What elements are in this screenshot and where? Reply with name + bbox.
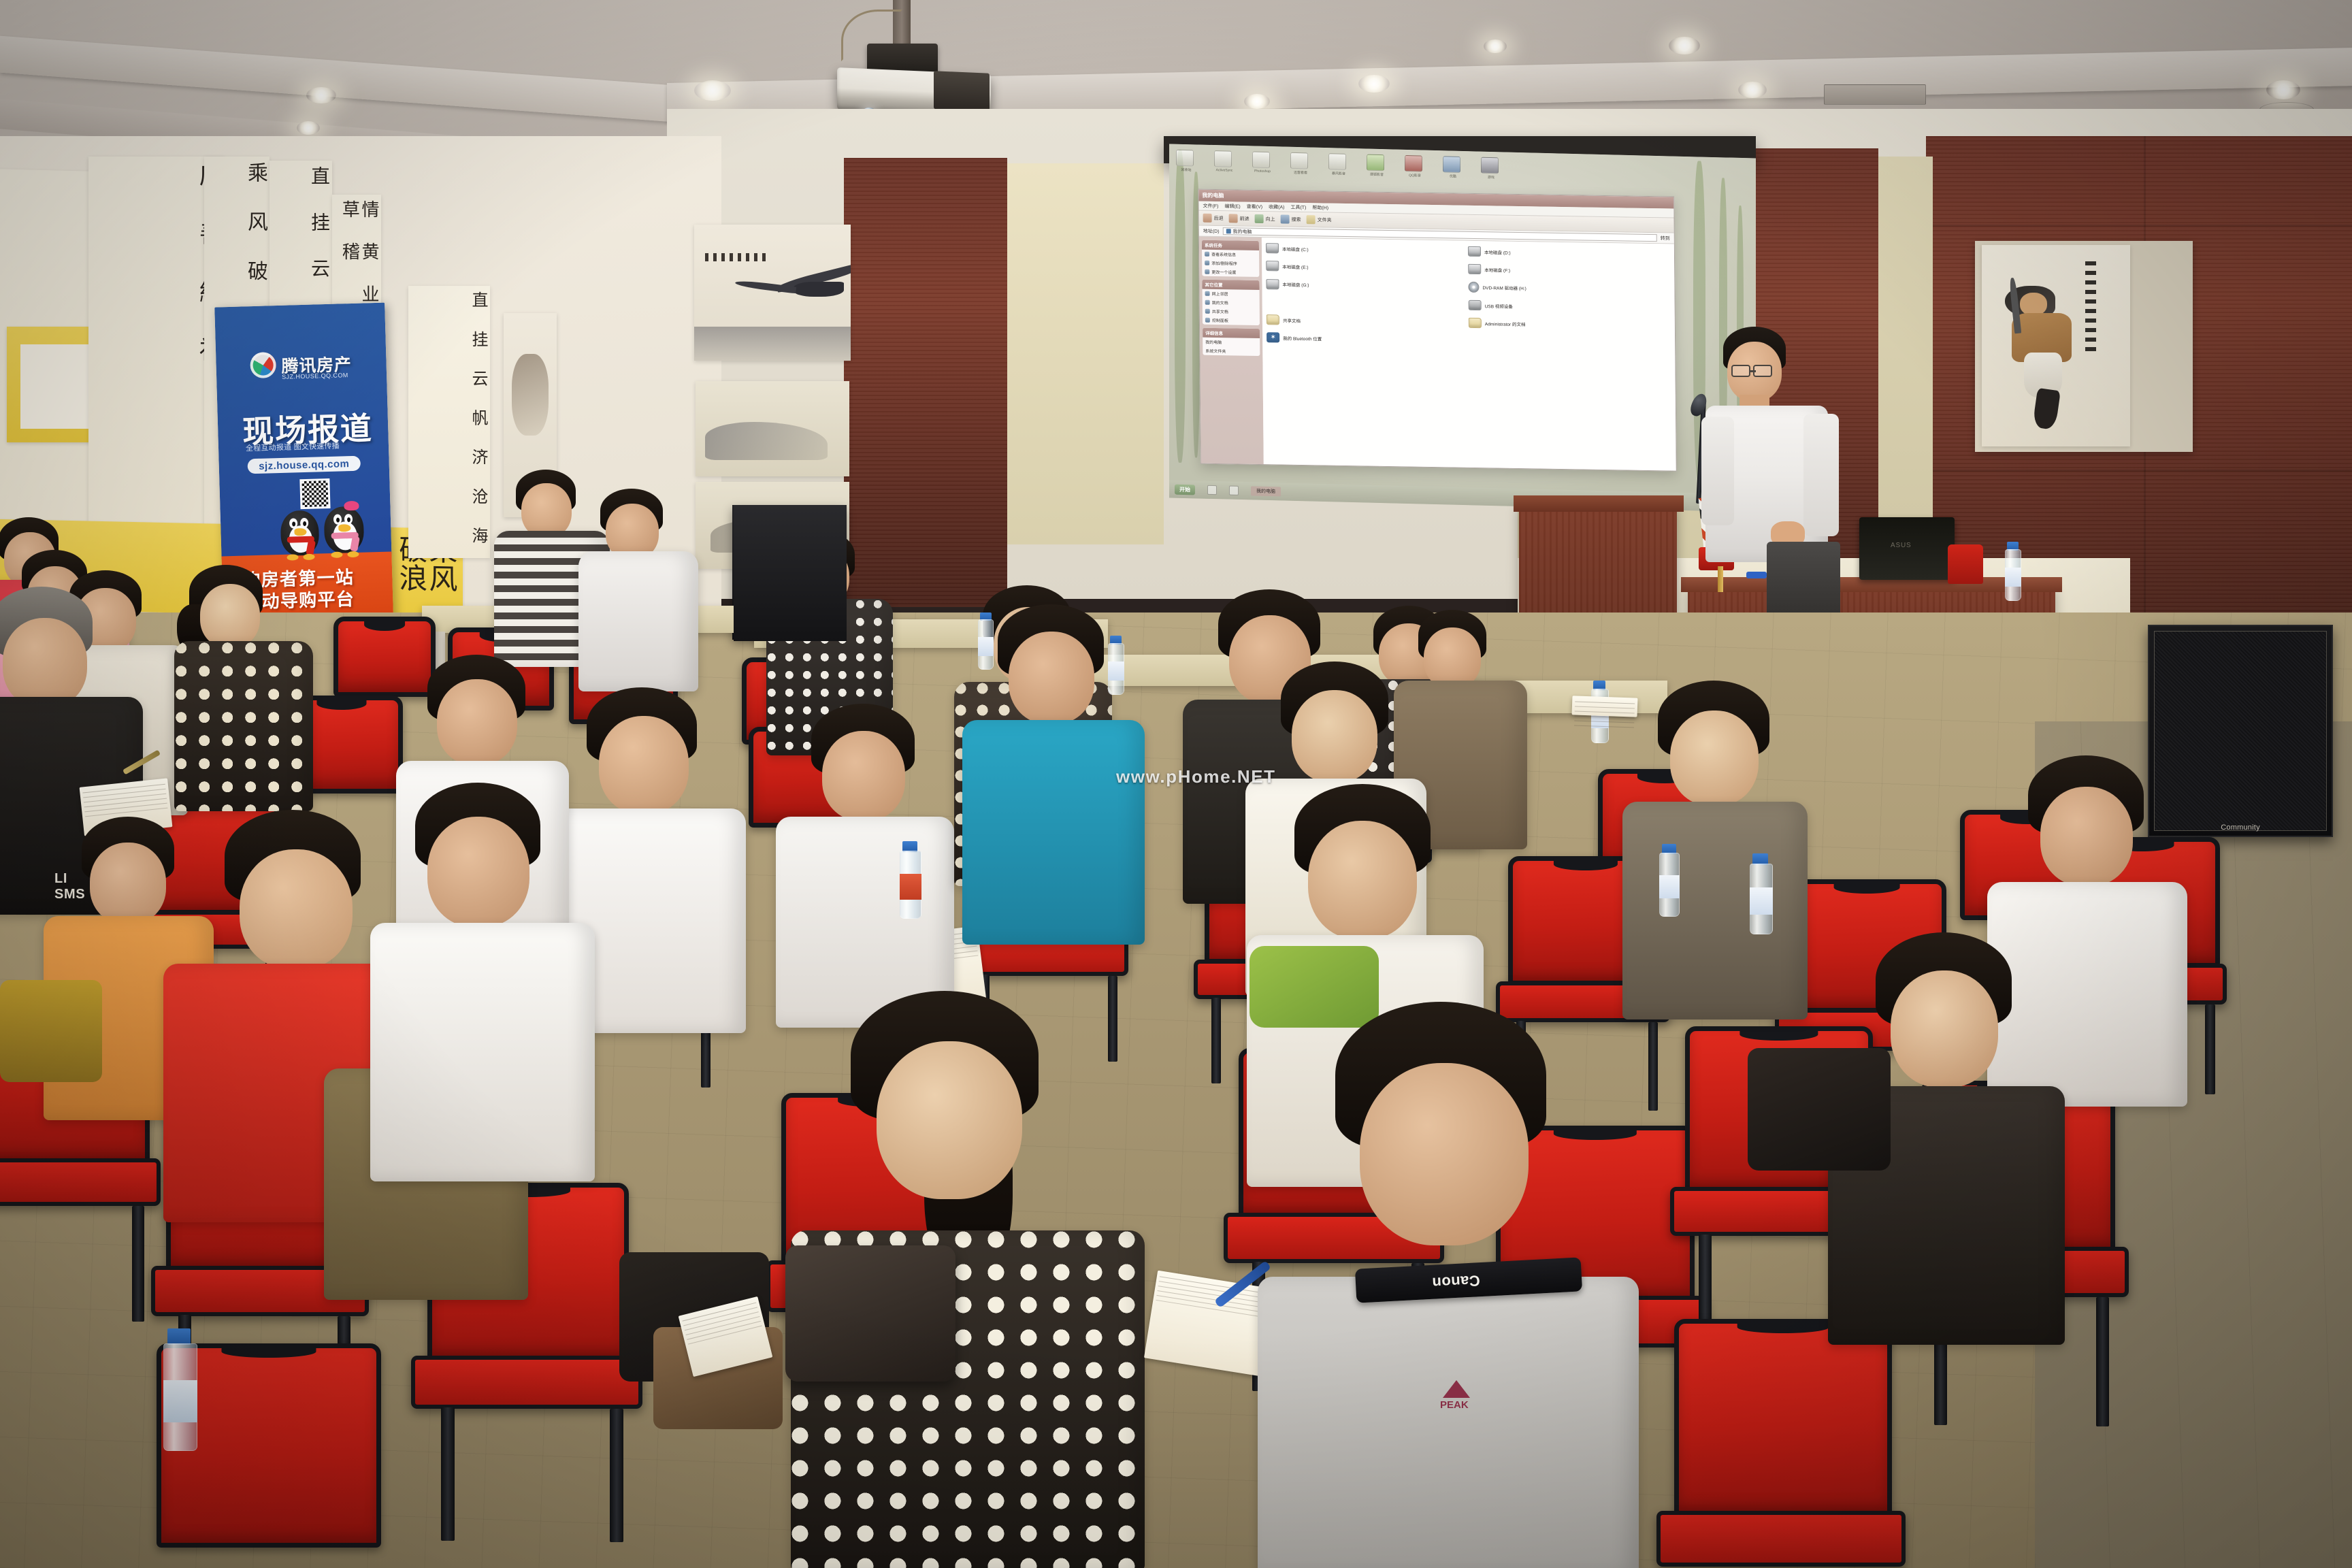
handbag (785, 1245, 955, 1382)
drive-list: 本地磁盘 (C:) 本地磁盘 (D:) 本地磁盘 (E:) 本地磁盘 (F:) … (1262, 238, 1676, 471)
task-sidebar: 系统任务 查看系统信息 添加/删除程序 更改一个设置 其它位置 网上邻居 我的文… (1199, 237, 1264, 465)
desktop-icon[interactable]: 游戏 (1481, 157, 1501, 185)
eagle-ink-painting (694, 225, 851, 361)
taskbar-icon[interactable] (1229, 486, 1239, 495)
qq-penguin-icon (277, 506, 322, 561)
ceiling-light (694, 80, 731, 101)
folder-item[interactable]: 共享文档 (1267, 314, 1469, 328)
panel-item[interactable]: 更改一个设置 (1202, 267, 1259, 277)
red-item-on-desk (1948, 544, 1983, 584)
panel-item[interactable]: 我的文档 (1203, 298, 1260, 308)
calligraphy-scroll-6: 直 挂 云 帆 济 沧 海 (408, 286, 490, 558)
forward-button[interactable]: 前进 (1229, 214, 1249, 223)
landscape-ink-painting-1 (696, 381, 849, 476)
ceiling-light (1669, 37, 1700, 54)
menu-item-tools[interactable]: 工具(T) (1290, 203, 1306, 210)
projected-desktop: 回收站 ActiveSync Photoshop 迅雷看看 暴风影音 搜狐影音 … (1169, 144, 1756, 512)
desktop-icon[interactable]: Photoshop (1252, 151, 1273, 179)
wood-wall-panel (844, 158, 1007, 607)
other-places-panel: 其它位置 网上邻居 我的文档 共享文档 控制面板 (1202, 280, 1260, 325)
penguin-bow-icon (344, 501, 359, 511)
green-scarf (1249, 946, 1379, 1028)
menu-item-help[interactable]: 帮助(H) (1312, 204, 1328, 211)
projection-screen: 回收站 ActiveSync Photoshop 迅雷看看 暴风影音 搜狐影音 … (1169, 144, 1756, 512)
camera-strap-brand: Canon (1431, 1271, 1480, 1292)
bag (1748, 1048, 1891, 1171)
glasses-icon (1731, 365, 1750, 377)
taskbar-window-button[interactable]: 我的电脑 (1251, 486, 1281, 496)
start-button[interactable]: 开始 (1175, 484, 1195, 495)
panel-item[interactable]: 共享文档 (1203, 307, 1260, 316)
asus-laptop: ASUS (1859, 517, 1955, 580)
shirt-brand: PEAK (1440, 1399, 1469, 1411)
glasses-icon (1753, 365, 1772, 377)
desktop-icon[interactable]: 迅雷看看 (1290, 152, 1311, 180)
panel-item: 系统文件夹 (1203, 346, 1260, 356)
projector-vent (934, 71, 990, 112)
document (1572, 696, 1638, 717)
podium-top (1514, 495, 1684, 512)
presenter-trousers (1767, 542, 1840, 617)
laptop-brand: ASUS (1891, 542, 1911, 549)
menu-item-view[interactable]: 查看(V) (1247, 203, 1262, 210)
panel-item: 我的电脑 (1203, 338, 1260, 347)
warrior-ink-painting (1982, 245, 2130, 446)
painting-inscription (705, 253, 770, 261)
speaker-grill (2154, 631, 2327, 831)
banner-url-pill: sjz.house.qq.com (247, 456, 361, 474)
menu-item-edit[interactable]: 编辑(E) (1224, 203, 1240, 210)
drive-item[interactable]: 本地磁盘 (F:) (1468, 264, 1670, 278)
ceiling-light (1738, 82, 1767, 98)
presenter-arm-right (1803, 414, 1839, 536)
back-button[interactable]: 后退 (1203, 214, 1224, 223)
ceiling-light (1484, 39, 1507, 53)
eagle-body (794, 282, 844, 297)
folders-button[interactable]: 文件夹 (1307, 215, 1332, 225)
drive-item-usb[interactable]: USB 视频设备 (1267, 297, 1671, 313)
ceiling-vent (1824, 84, 1926, 105)
panel-item[interactable]: 查看系统信息 (1202, 250, 1259, 259)
drive-item-cd[interactable]: DVD-RAM 驱动器 (H:) (1468, 282, 1670, 296)
figure-face (2020, 293, 2047, 316)
desktop-icon[interactable]: QQ影音 (1405, 155, 1425, 183)
panel-header: 系统任务 (1202, 240, 1259, 250)
menu-item-favorites[interactable]: 收藏(A) (1269, 203, 1284, 210)
speaker-brand-label: Community (2221, 823, 2260, 832)
desktop-icon-row: 回收站 ActiveSync Photoshop 迅雷看看 暴风影音 搜狐影音 … (1176, 150, 1501, 185)
panel-item[interactable]: 控制面板 (1203, 316, 1260, 325)
figure-boot (2032, 388, 2061, 430)
window-title: 我的电脑 (1202, 192, 1224, 200)
address-value: 我的电脑 (1232, 228, 1252, 235)
taskbar-icon[interactable] (1207, 485, 1217, 495)
wall-seam (1926, 470, 2352, 472)
menu-item-file[interactable]: 文件(F) (1203, 202, 1218, 209)
panel-header: 详细信息 (1203, 328, 1260, 338)
drive-item[interactable]: 本地磁盘 (E:) (1266, 261, 1468, 274)
peak-logo-icon: PEAK (1439, 1379, 1478, 1413)
drive-item[interactable]: 本地磁盘 (G:) (1266, 278, 1468, 293)
conference-room-photo: 情 黄 业 家 我 春 青 草 稽 乘风破浪 / 直挂云帆 乘 风 破 浪 会 … (0, 0, 2352, 1568)
panel-item[interactable]: 网上邻居 (1203, 289, 1260, 299)
drive-item[interactable]: 本地磁盘 (C:) (1266, 243, 1468, 257)
mountain-shape (705, 422, 828, 460)
presenter-arm-left (1701, 416, 1734, 525)
desktop-icon[interactable]: 暴风影音 (1328, 153, 1349, 181)
address-label: 地址(D) (1203, 227, 1220, 234)
glasses-bridge (1749, 370, 1756, 372)
qq-penguin-female-icon (321, 500, 367, 559)
system-tasks-panel: 系统任务 查看系统信息 添加/删除程序 更改一个设置 (1202, 240, 1259, 277)
search-button[interactable]: 搜索 (1281, 214, 1301, 223)
bluetooth-item[interactable]: ✶我的 Bluetooth 位置 (1267, 332, 1469, 346)
ceiling-light (306, 87, 336, 103)
flag-pole (1718, 566, 1723, 592)
painting-inscription (2085, 261, 2096, 357)
folder-item[interactable]: Administrator 的文档 (1469, 318, 1671, 331)
up-button[interactable]: 向上 (1255, 214, 1275, 223)
drive-item[interactable]: 本地磁盘 (D:) (1468, 246, 1670, 260)
desktop-icon[interactable]: ActiveSync (1214, 150, 1235, 178)
beige-wall-panel (1007, 163, 1164, 544)
ceiling-light (1358, 75, 1390, 93)
ceiling-light (2266, 80, 2300, 99)
shirt-text: LI SMS (54, 871, 85, 902)
figure-sketch (512, 354, 549, 436)
ceiling-light (1244, 94, 1270, 109)
details-panel: 详细信息 我的电脑 系统文件夹 (1203, 328, 1260, 356)
wall-seam (1926, 225, 2352, 227)
desktop-icon[interactable]: 优酷 (1443, 156, 1463, 184)
ceiling-light (297, 121, 320, 135)
handbag (0, 980, 102, 1082)
blue-pen (1746, 572, 1767, 578)
eagle-waves (694, 327, 851, 361)
go-button[interactable]: 转到 (1661, 235, 1670, 242)
panel-item[interactable]: 添加/删除程序 (1202, 259, 1259, 268)
desktop-icon[interactable]: 回收站 (1176, 150, 1196, 178)
av-cabinet (734, 505, 847, 641)
panel-header: 其它位置 (1202, 280, 1259, 290)
my-computer-window[interactable]: 我的电脑 文件(F) 编辑(E) 查看(V) 收藏(A) 工具(T) 帮助(H)… (1198, 189, 1676, 472)
desktop-icon[interactable]: 搜狐影音 (1367, 154, 1387, 182)
community-loudspeaker: Community (2148, 625, 2333, 837)
